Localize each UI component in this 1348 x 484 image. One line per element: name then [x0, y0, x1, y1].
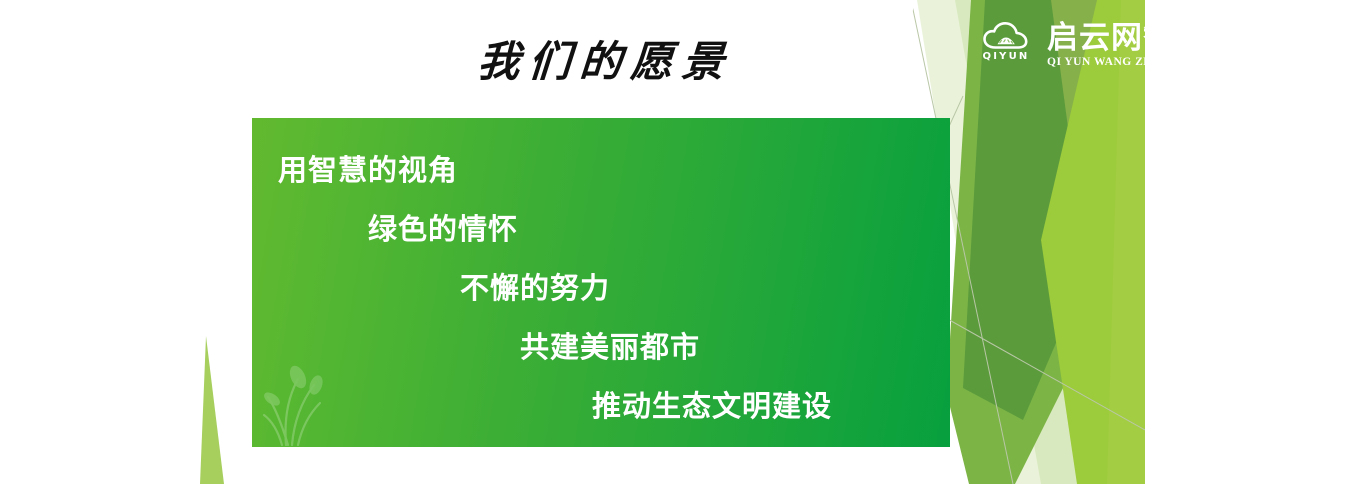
vision-line: 不懈的努力: [460, 274, 950, 303]
vision-panel: 用智慧的视角 绿色的情怀 不懈的努力 共建美丽都市 推动生态文明建设: [252, 118, 950, 447]
vision-line: 绿色的情怀: [368, 215, 950, 244]
company-logo: QIYUN 启云网智 QI YUN WANG ZHI: [975, 22, 1175, 68]
logo-company-name-pinyin: QI YUN WANG ZHI: [1047, 56, 1158, 68]
logo-mark: QIYUN: [975, 22, 1037, 62]
vision-line-list: 用智慧的视角 绿色的情怀 不懈的努力 共建美丽都市 推动生态文明建设: [252, 118, 950, 447]
logo-mark-text: QIYUN: [983, 52, 1030, 62]
vision-line: 用智慧的视角: [278, 156, 950, 185]
logo-wordmark: 启云网智 QI YUN WANG ZHI: [1047, 22, 1175, 68]
page-title: 我们的愿景: [476, 28, 735, 89]
logo-company-name-cn: 启云网智: [1047, 22, 1175, 55]
cloud-icon: [983, 22, 1029, 50]
slide-canvas: QIYUN 启云网智 QI YUN WANG ZHI 我们的愿景: [0, 0, 1348, 484]
vision-line: 推动生态文明建设: [592, 392, 950, 421]
vision-line: 共建美丽都市: [520, 333, 950, 362]
